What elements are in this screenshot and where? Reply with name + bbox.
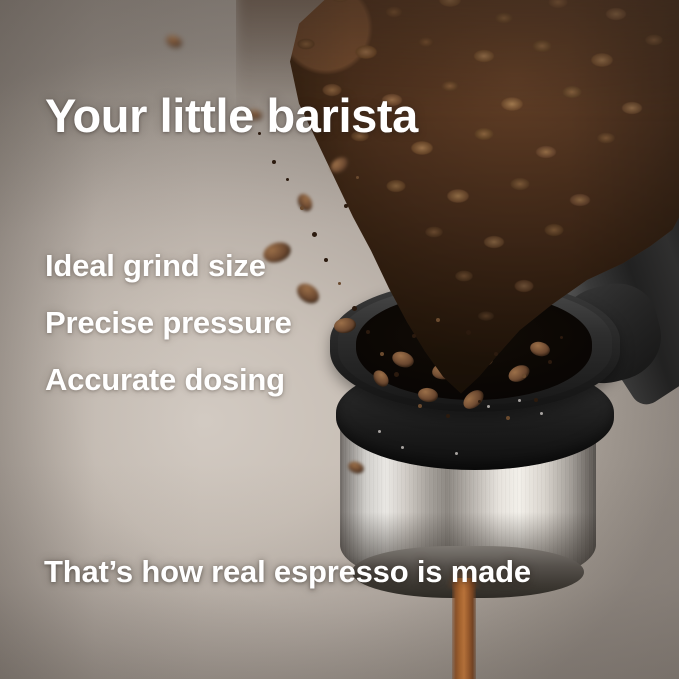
tagline: That’s how real espresso is made — [44, 556, 531, 587]
feature-item-pressure: Precise pressure — [45, 307, 292, 338]
page-title: Your little barista — [45, 92, 418, 139]
feature-list: Ideal grind size Precise pressure Accura… — [45, 250, 292, 395]
feature-item-dosing: Accurate dosing — [45, 364, 292, 395]
product-banner: Your little barista Ideal grind size Pre… — [0, 0, 679, 679]
feature-item-grind-size: Ideal grind size — [45, 250, 292, 281]
